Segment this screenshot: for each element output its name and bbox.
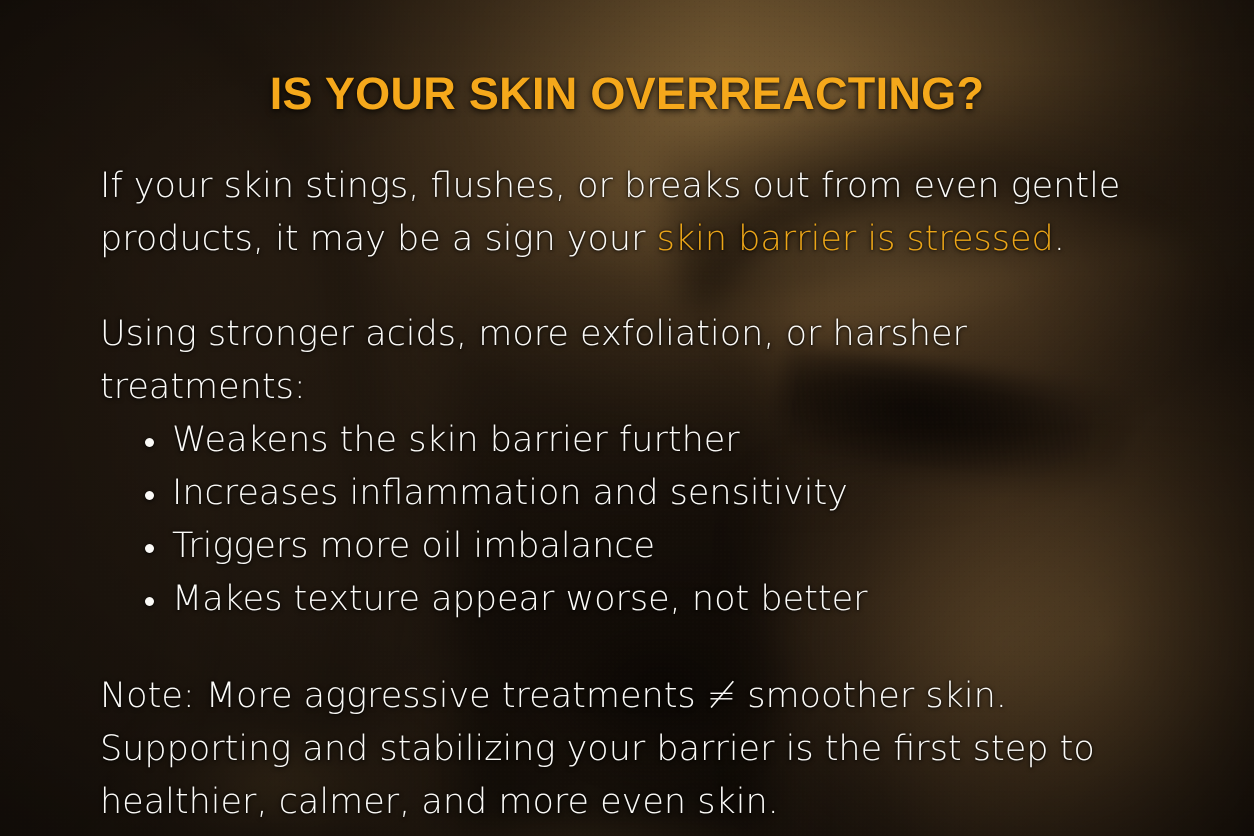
intro-text-part-2: . xyxy=(1054,219,1065,259)
intro-paragraph: If your skin stings, flushes, or breaks … xyxy=(100,160,1160,266)
lead-in-paragraph: Using stronger acids, more exfoliation, … xyxy=(100,308,1160,414)
infographic-canvas: IS YOUR SKIN OVERREACTING? If your skin … xyxy=(0,0,1254,836)
list-item: Makes texture appear worse, not better xyxy=(100,573,1160,626)
highlighted-phrase: skin barrier is stressed xyxy=(657,219,1054,259)
note-paragraph: Note: More aggressive treatments ≠ smoot… xyxy=(100,670,1160,829)
content-layer: IS YOUR SKIN OVERREACTING? If your skin … xyxy=(0,0,1254,836)
effects-list: Weakens the skin barrier further Increas… xyxy=(100,414,1160,626)
list-item: Weakens the skin barrier further xyxy=(100,414,1160,467)
list-item: Triggers more oil imbalance xyxy=(100,520,1160,573)
body-copy: If your skin stings, flushes, or breaks … xyxy=(100,160,1160,829)
list-item: Increases inflammation and sensitivity xyxy=(100,467,1160,520)
page-title: IS YOUR SKIN OVERREACTING? xyxy=(0,68,1254,120)
